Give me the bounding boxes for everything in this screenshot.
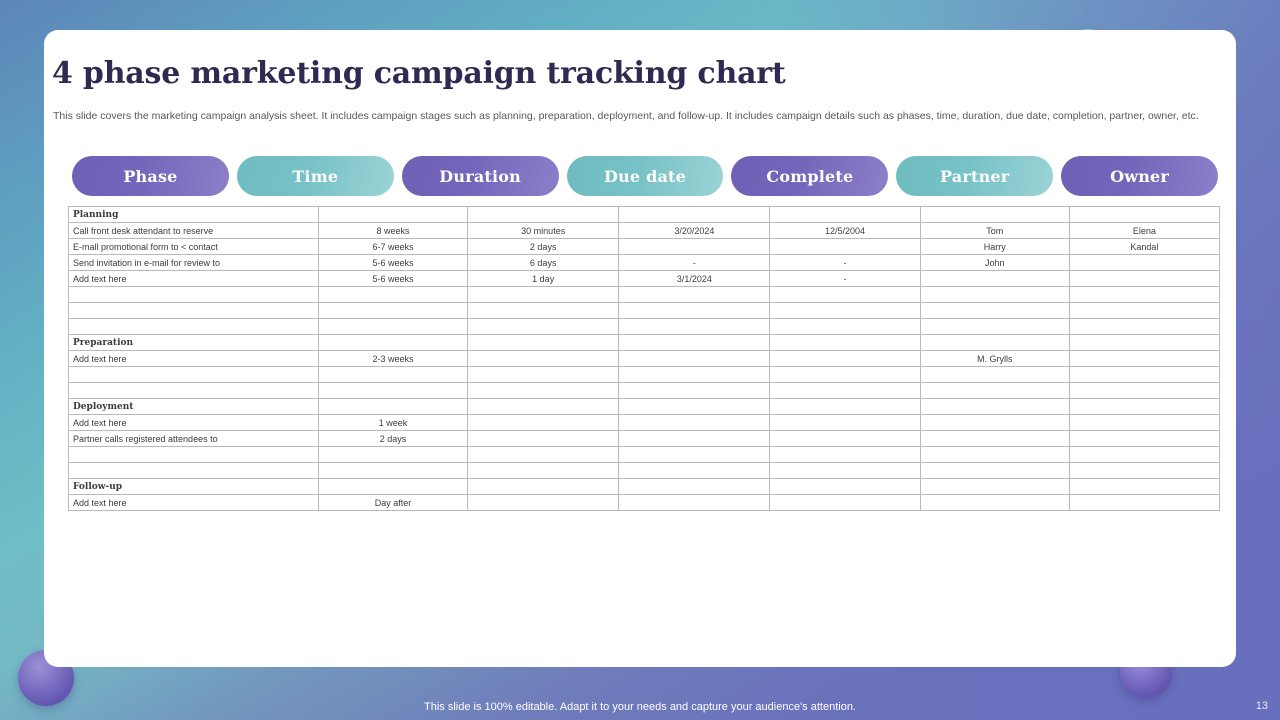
cell-due-date[interactable]: [619, 495, 770, 511]
cell-duration[interactable]: [468, 319, 619, 335]
table-row: Add text hereDay after: [69, 495, 1220, 511]
cell-time[interactable]: [318, 287, 467, 303]
campaign-tracking-table: PlanningCall front desk attendant to res…: [68, 206, 1220, 511]
table-header-pill-row: PhaseTimeDurationDue dateCompletePartner…: [72, 156, 1218, 196]
cell-phase[interactable]: [69, 303, 319, 319]
cell-owner[interactable]: [1069, 463, 1219, 479]
cell-partner[interactable]: [920, 367, 1069, 383]
cell-duration[interactable]: 1 day: [468, 271, 619, 287]
table-section-row: Planning: [69, 207, 1220, 223]
cell-phase[interactable]: Follow-up: [69, 479, 319, 495]
cell-owner[interactable]: [1069, 383, 1219, 399]
table-row: Add text here2-3 weeksM. Grylls: [69, 351, 1220, 367]
table-row: [69, 303, 1220, 319]
cell-owner[interactable]: [1069, 479, 1219, 495]
cell-complete[interactable]: [770, 415, 920, 431]
cell-due-date[interactable]: [619, 303, 770, 319]
cell-duration[interactable]: [468, 495, 619, 511]
cell-phase[interactable]: [69, 287, 319, 303]
page-subtitle: This slide covers the marketing campaign…: [53, 109, 1205, 123]
table-row: [69, 383, 1220, 399]
cell-partner[interactable]: M. Grylls: [920, 351, 1069, 367]
cell-complete[interactable]: [770, 239, 920, 255]
cell-complete[interactable]: -: [770, 255, 920, 271]
cell-owner[interactable]: [1069, 207, 1219, 223]
cell-phase[interactable]: Deployment: [69, 399, 319, 415]
column-header-partner[interactable]: Partner: [896, 156, 1053, 196]
cell-time[interactable]: 5-6 weeks: [318, 255, 467, 271]
cell-partner[interactable]: [920, 303, 1069, 319]
cell-time[interactable]: [318, 383, 467, 399]
table-section-row: Preparation: [69, 335, 1220, 351]
cell-complete[interactable]: [770, 367, 920, 383]
table-body: PlanningCall front desk attendant to res…: [69, 207, 1220, 511]
cell-phase[interactable]: E-mall promotional form to < contact: [69, 239, 319, 255]
cell-phase[interactable]: [69, 463, 319, 479]
cell-owner[interactable]: [1069, 255, 1219, 271]
cell-complete[interactable]: -: [770, 271, 920, 287]
cell-due-date[interactable]: 3/20/2024: [619, 223, 770, 239]
cell-time[interactable]: [318, 447, 467, 463]
table-row: Send invitation in e-mail for review to5…: [69, 255, 1220, 271]
cell-partner[interactable]: [920, 207, 1069, 223]
cell-duration[interactable]: 30 minutes: [468, 223, 619, 239]
cell-owner[interactable]: [1069, 399, 1219, 415]
cell-partner[interactable]: Harry: [920, 239, 1069, 255]
cell-phase[interactable]: Planning: [69, 207, 319, 223]
cell-duration[interactable]: [468, 463, 619, 479]
cell-duration[interactable]: 6 days: [468, 255, 619, 271]
table-row: [69, 367, 1220, 383]
cell-partner[interactable]: [920, 335, 1069, 351]
cell-partner[interactable]: [920, 271, 1069, 287]
cell-due-date[interactable]: [619, 207, 770, 223]
column-header-complete[interactable]: Complete: [731, 156, 888, 196]
cell-due-date[interactable]: 3/1/2024: [619, 271, 770, 287]
cell-time[interactable]: 8 weeks: [318, 223, 467, 239]
cell-duration[interactable]: [468, 335, 619, 351]
cell-complete[interactable]: [770, 207, 920, 223]
table-row: E-mall promotional form to < contact6-7 …: [69, 239, 1220, 255]
cell-duration[interactable]: [468, 207, 619, 223]
cell-time[interactable]: 1 week: [318, 415, 467, 431]
cell-partner[interactable]: Tom: [920, 223, 1069, 239]
page-number: 13: [1256, 700, 1268, 712]
slide-canvas: 4 phase marketing campaign tracking char…: [0, 0, 1280, 720]
cell-time[interactable]: 2 days: [318, 431, 467, 447]
cell-time[interactable]: [318, 303, 467, 319]
slide-card: 4 phase marketing campaign tracking char…: [44, 30, 1236, 667]
cell-duration[interactable]: [468, 415, 619, 431]
cell-partner[interactable]: [920, 463, 1069, 479]
cell-partner[interactable]: John: [920, 255, 1069, 271]
cell-due-date[interactable]: [619, 319, 770, 335]
cell-phase[interactable]: Add text here: [69, 271, 319, 287]
cell-partner[interactable]: [920, 447, 1069, 463]
cell-owner[interactable]: [1069, 431, 1219, 447]
cell-partner[interactable]: [920, 479, 1069, 495]
cell-due-date[interactable]: [619, 399, 770, 415]
cell-time[interactable]: [318, 463, 467, 479]
cell-due-date[interactable]: [619, 287, 770, 303]
cell-time[interactable]: [318, 367, 467, 383]
table-row: [69, 447, 1220, 463]
table-row: [69, 319, 1220, 335]
cell-partner[interactable]: [920, 415, 1069, 431]
cell-time[interactable]: [318, 207, 467, 223]
cell-due-date[interactable]: [619, 351, 770, 367]
cell-complete[interactable]: [770, 399, 920, 415]
cell-partner[interactable]: [920, 399, 1069, 415]
table-row: [69, 287, 1220, 303]
cell-complete[interactable]: [770, 431, 920, 447]
cell-due-date[interactable]: -: [619, 255, 770, 271]
cell-complete[interactable]: [770, 319, 920, 335]
table-section-row: Deployment: [69, 399, 1220, 415]
cell-partner[interactable]: [920, 319, 1069, 335]
cell-owner[interactable]: [1069, 271, 1219, 287]
cell-due-date[interactable]: [619, 463, 770, 479]
cell-partner[interactable]: [920, 431, 1069, 447]
cell-duration[interactable]: [468, 287, 619, 303]
cell-time[interactable]: [318, 319, 467, 335]
cell-duration[interactable]: 2 days: [468, 239, 619, 255]
cell-due-date[interactable]: [619, 479, 770, 495]
cell-complete[interactable]: [770, 447, 920, 463]
cell-owner[interactable]: Kandal: [1069, 239, 1219, 255]
cell-complete[interactable]: [770, 335, 920, 351]
cell-owner[interactable]: [1069, 447, 1219, 463]
table-row: Add text here1 week: [69, 415, 1220, 431]
table-row: Partner calls registered attendees to2 d…: [69, 431, 1220, 447]
cell-owner[interactable]: [1069, 367, 1219, 383]
cell-owner[interactable]: Elena: [1069, 223, 1219, 239]
cell-owner[interactable]: [1069, 495, 1219, 511]
cell-phase[interactable]: Preparation: [69, 335, 319, 351]
cell-time[interactable]: [318, 335, 467, 351]
cell-duration[interactable]: [468, 431, 619, 447]
cell-complete[interactable]: [770, 495, 920, 511]
cell-due-date[interactable]: [619, 335, 770, 351]
cell-due-date[interactable]: [619, 431, 770, 447]
cell-owner[interactable]: [1069, 351, 1219, 367]
cell-phase[interactable]: Partner calls registered attendees to: [69, 431, 319, 447]
cell-duration[interactable]: [468, 383, 619, 399]
cell-owner[interactable]: [1069, 415, 1219, 431]
column-header-due-date[interactable]: Due date: [567, 156, 724, 196]
cell-duration[interactable]: [468, 479, 619, 495]
cell-owner[interactable]: [1069, 335, 1219, 351]
cell-phase[interactable]: [69, 319, 319, 335]
cell-phase[interactable]: [69, 447, 319, 463]
cell-complete[interactable]: [770, 463, 920, 479]
table-row: Call front desk attendant to reserve8 we…: [69, 223, 1220, 239]
table-row: [69, 463, 1220, 479]
cell-time[interactable]: 2-3 weeks: [318, 351, 467, 367]
cell-due-date[interactable]: [619, 415, 770, 431]
cell-phase[interactable]: Send invitation in e-mail for review to: [69, 255, 319, 271]
cell-phase[interactable]: [69, 383, 319, 399]
cell-phase[interactable]: [69, 367, 319, 383]
table-section-row: Follow-up: [69, 479, 1220, 495]
cell-duration[interactable]: [468, 367, 619, 383]
cell-owner[interactable]: [1069, 287, 1219, 303]
footer-note: This slide is 100% editable. Adapt it to…: [0, 701, 1280, 713]
cell-partner[interactable]: [920, 287, 1069, 303]
cell-phase[interactable]: Add text here: [69, 415, 319, 431]
cell-duration[interactable]: [468, 399, 619, 415]
column-header-owner[interactable]: Owner: [1061, 156, 1218, 196]
cell-complete[interactable]: [770, 351, 920, 367]
cell-phase[interactable]: Call front desk attendant to reserve: [69, 223, 319, 239]
cell-due-date[interactable]: [619, 447, 770, 463]
cell-phase[interactable]: Add text here: [69, 351, 319, 367]
cell-owner[interactable]: [1069, 319, 1219, 335]
column-header-phase[interactable]: Phase: [72, 156, 229, 196]
cell-duration[interactable]: [468, 447, 619, 463]
cell-partner[interactable]: [920, 383, 1069, 399]
cell-due-date[interactable]: [619, 383, 770, 399]
cell-duration[interactable]: [468, 303, 619, 319]
cell-time[interactable]: 5-6 weeks: [318, 271, 467, 287]
cell-time[interactable]: Day after: [318, 495, 467, 511]
cell-due-date[interactable]: [619, 239, 770, 255]
cell-owner[interactable]: [1069, 303, 1219, 319]
cell-complete[interactable]: [770, 479, 920, 495]
cell-time[interactable]: [318, 399, 467, 415]
cell-complete[interactable]: [770, 303, 920, 319]
page-title: 4 phase marketing campaign tracking char…: [52, 56, 786, 91]
cell-duration[interactable]: [468, 351, 619, 367]
cell-due-date[interactable]: [619, 367, 770, 383]
cell-phase[interactable]: Add text here: [69, 495, 319, 511]
column-header-duration[interactable]: Duration: [402, 156, 559, 196]
cell-complete[interactable]: [770, 383, 920, 399]
cell-time[interactable]: [318, 479, 467, 495]
cell-partner[interactable]: [920, 495, 1069, 511]
cell-time[interactable]: 6-7 weeks: [318, 239, 467, 255]
table-row: Add text here5-6 weeks1 day3/1/2024-: [69, 271, 1220, 287]
cell-complete[interactable]: 12/5/2004: [770, 223, 920, 239]
column-header-time[interactable]: Time: [237, 156, 394, 196]
cell-complete[interactable]: [770, 287, 920, 303]
